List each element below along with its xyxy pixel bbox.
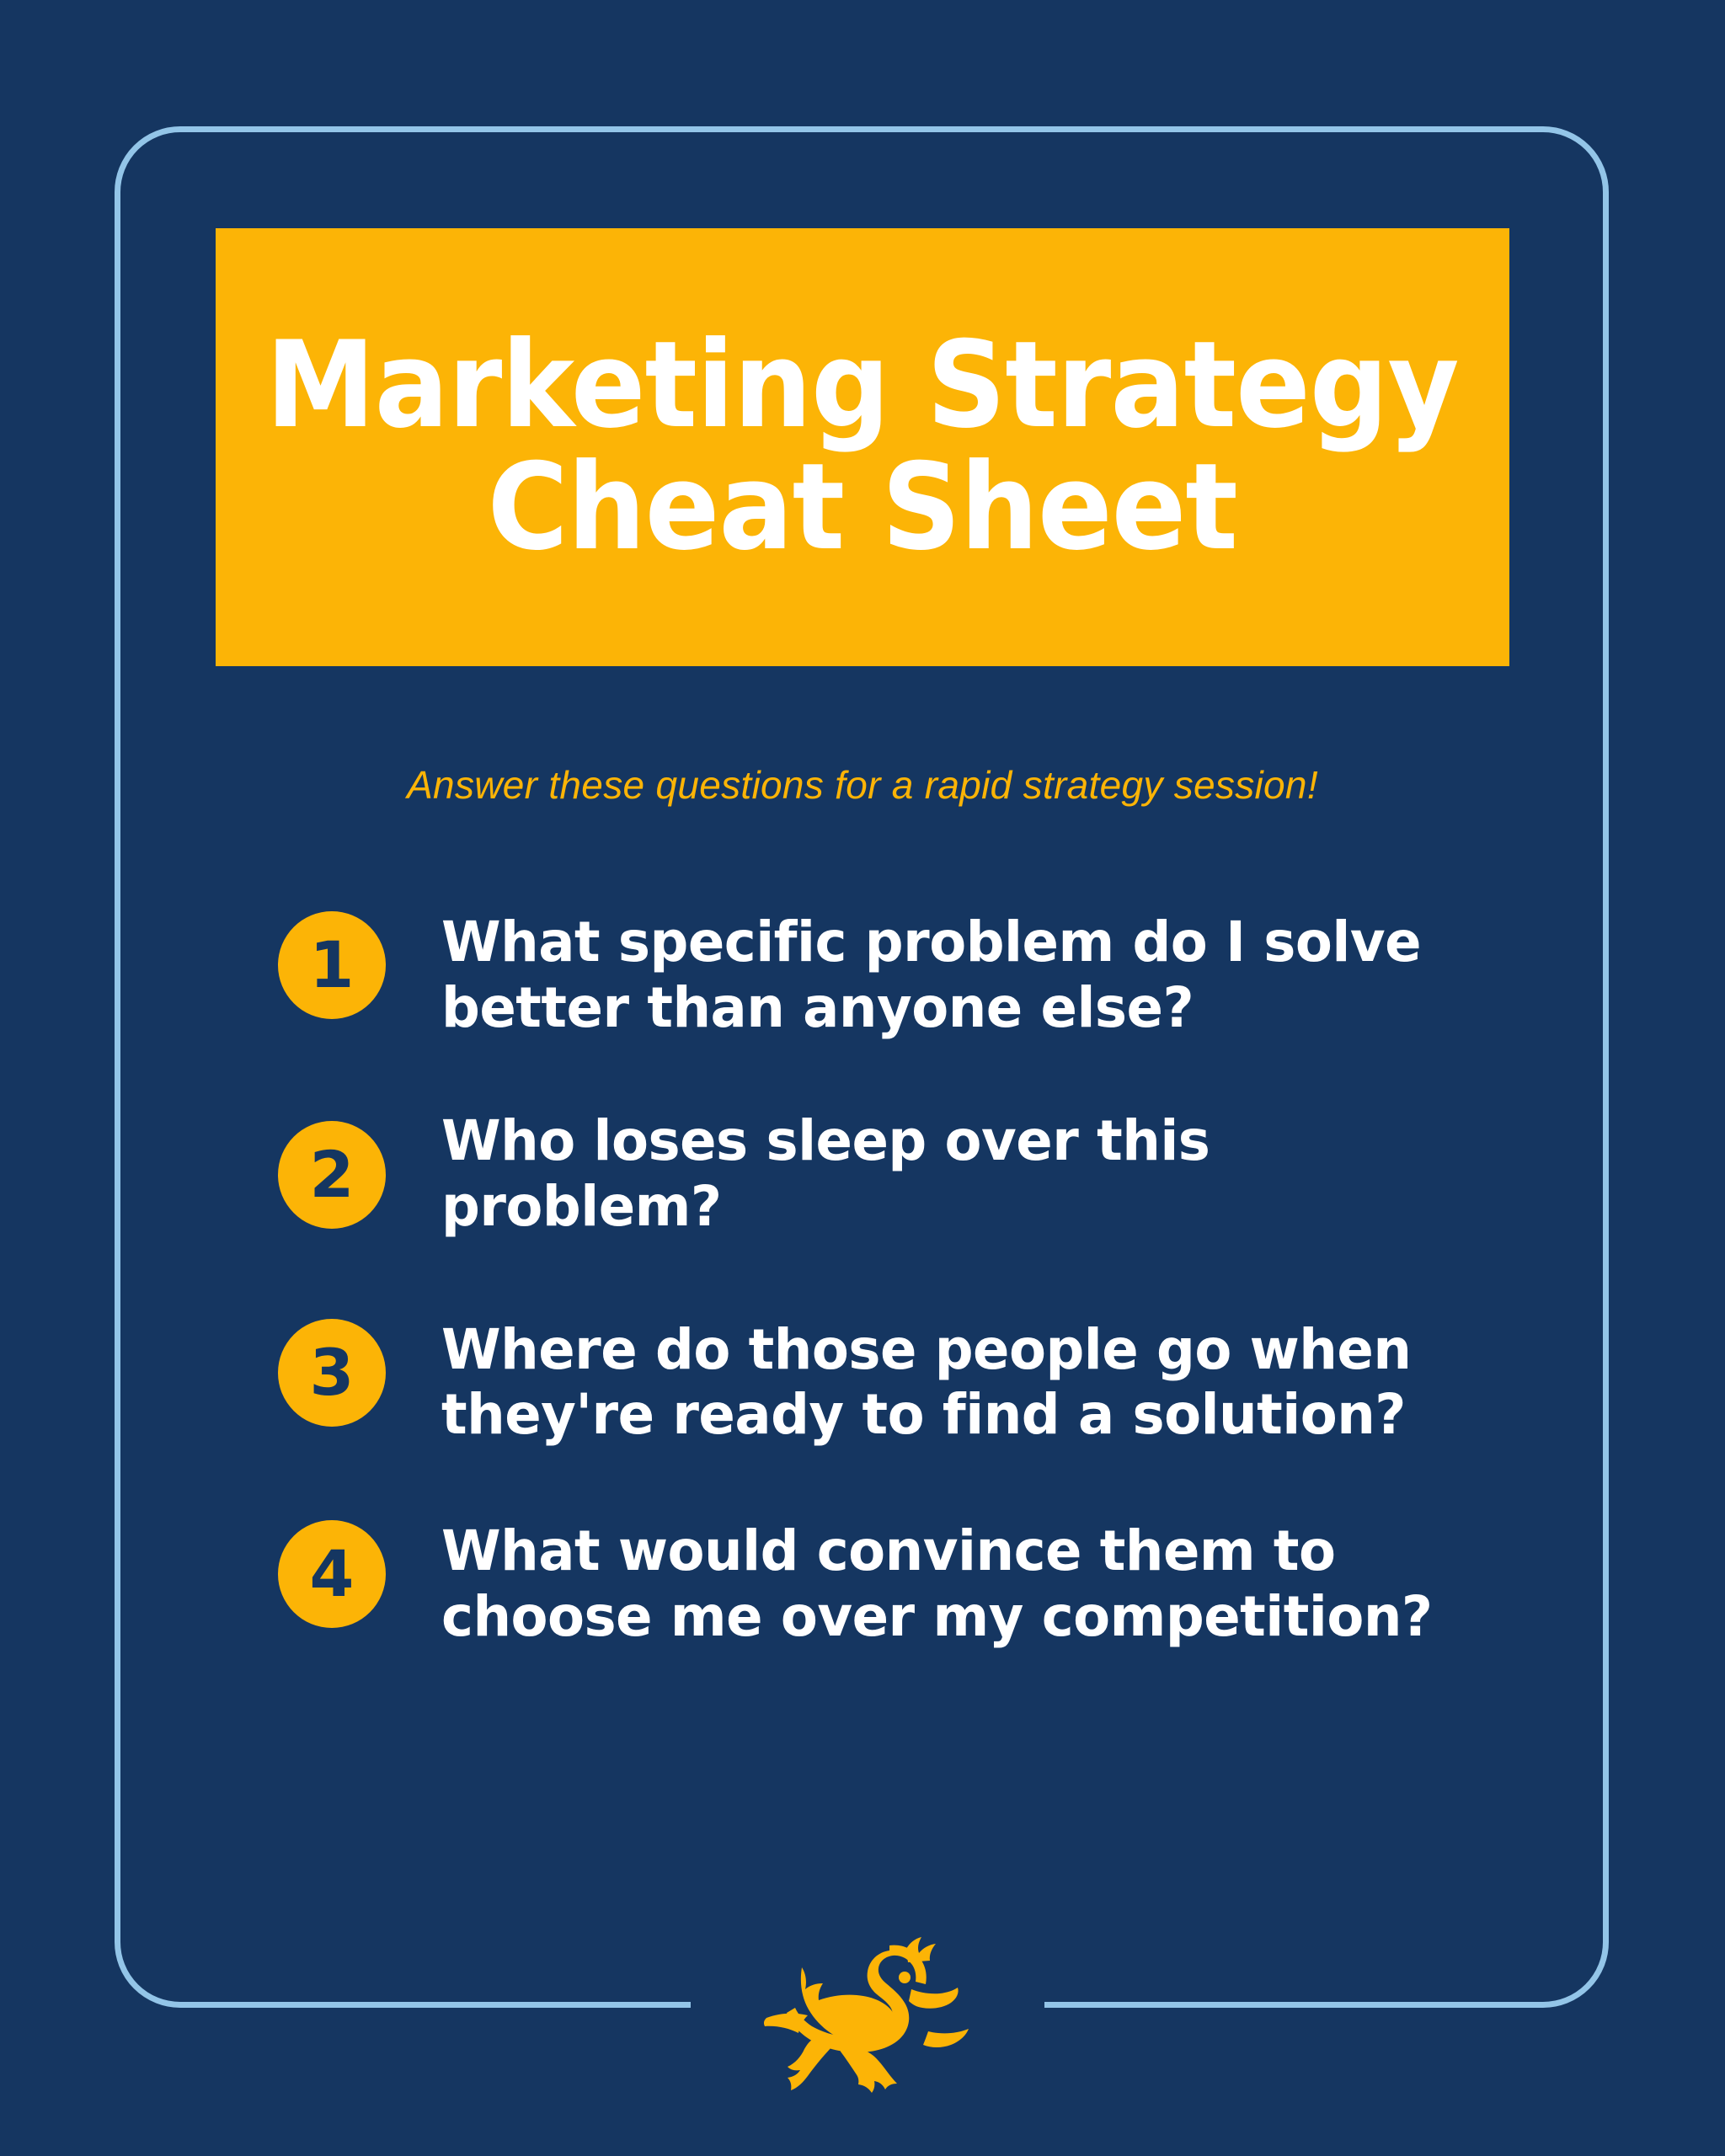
poster-canvas: Marketing Strategy Cheat Sheet Answer th…	[0, 0, 1725, 2156]
question-text: Where do those people go when they're re…	[441, 1317, 1492, 1449]
question-line-2: they're ready to find a solution?	[441, 1382, 1492, 1448]
question-number-badge: 1	[278, 911, 386, 1019]
question-line-1: Where do those people go when	[441, 1317, 1411, 1382]
question-text: Who loses sleep over this problem?	[441, 1108, 1492, 1240]
question-line-2: choose me over my competition?	[441, 1584, 1492, 1650]
question-line-1: What specific problem do I solve	[441, 910, 1421, 974]
list-item: 2 Who loses sleep over this problem?	[278, 1108, 1525, 1240]
question-line-2: better than anyone else?	[441, 975, 1492, 1041]
subtitle-text: Answer these questions for a rapid strat…	[0, 762, 1725, 808]
question-line-1: What would convince them to	[441, 1518, 1336, 1583]
duck-logo-icon	[741, 1937, 994, 2105]
question-number-badge: 3	[278, 1319, 386, 1427]
question-number-badge: 4	[278, 1520, 386, 1628]
title-banner: Marketing Strategy Cheat Sheet	[216, 228, 1509, 666]
question-text: What would convince them to choose me ov…	[441, 1518, 1492, 1650]
title-line-1: Marketing Strategy	[266, 325, 1459, 447]
list-item: 4 What would convince them to choose me …	[278, 1518, 1525, 1650]
question-number-badge: 2	[278, 1121, 386, 1229]
list-item: 3 Where do those people go when they're …	[278, 1317, 1525, 1449]
question-list: 1 What specific problem do I solve bette…	[278, 910, 1525, 1714]
question-line-1: Who loses sleep over this problem?	[441, 1108, 1210, 1239]
question-text: What specific problem do I solve better …	[441, 910, 1492, 1041]
list-item: 1 What specific problem do I solve bette…	[278, 910, 1525, 1041]
title-line-2: Cheat Sheet	[488, 447, 1237, 569]
